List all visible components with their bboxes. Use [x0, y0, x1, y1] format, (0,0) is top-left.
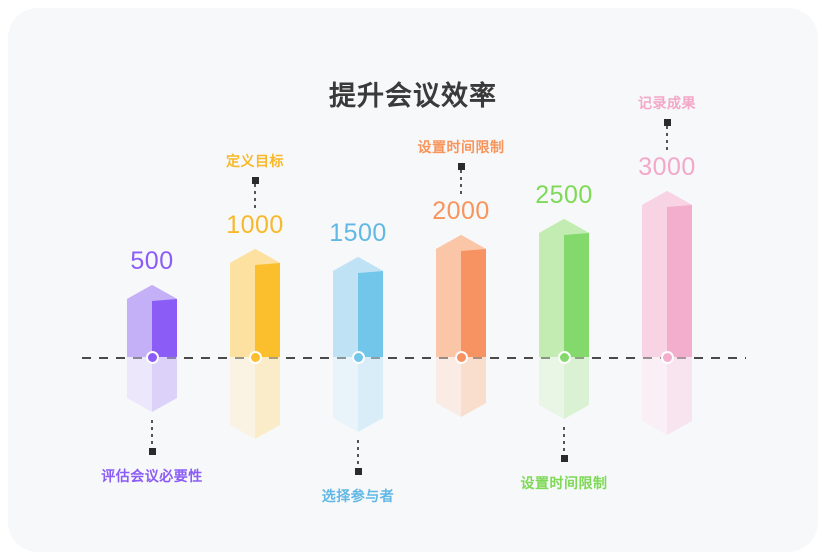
bar-value-label: 3000	[592, 153, 742, 182]
baseline-marker-dot[interactable]	[146, 351, 159, 364]
leader-endpoint-dot	[252, 177, 259, 184]
bar-group[interactable]: 500评估会议必要性	[97, 8, 207, 552]
bar-shape	[406, 8, 516, 552]
leader-endpoint-dot	[355, 468, 362, 475]
bar-shape	[509, 8, 619, 552]
baseline-marker-dot[interactable]	[352, 351, 365, 364]
leader-endpoint-dot	[149, 448, 156, 455]
baseline-marker-dot[interactable]	[558, 351, 571, 364]
leader-endpoint-dot	[458, 163, 465, 170]
leader-endpoint-dot	[664, 119, 671, 126]
bar-group[interactable]: 2500设置时间限制	[509, 8, 619, 552]
bar-group[interactable]: 3000记录成果	[612, 8, 722, 552]
bar-group[interactable]: 1000定义目标	[200, 8, 310, 552]
leader-endpoint-dot	[561, 455, 568, 462]
bar-group[interactable]: 2000设置时间限制	[406, 8, 516, 552]
baseline-marker-dot[interactable]	[661, 351, 674, 364]
chart-card: 提升会议效率 500评估会议必要性1000定义目标1500选择参与者2000设置…	[8, 8, 818, 552]
bar-shape	[200, 8, 310, 552]
bar-shape	[612, 8, 722, 552]
baseline-marker-dot[interactable]	[249, 351, 262, 364]
bar-group[interactable]: 1500选择参与者	[303, 8, 413, 552]
bar-category-label: 记录成果	[577, 93, 757, 113]
baseline-marker-dot[interactable]	[455, 351, 468, 364]
